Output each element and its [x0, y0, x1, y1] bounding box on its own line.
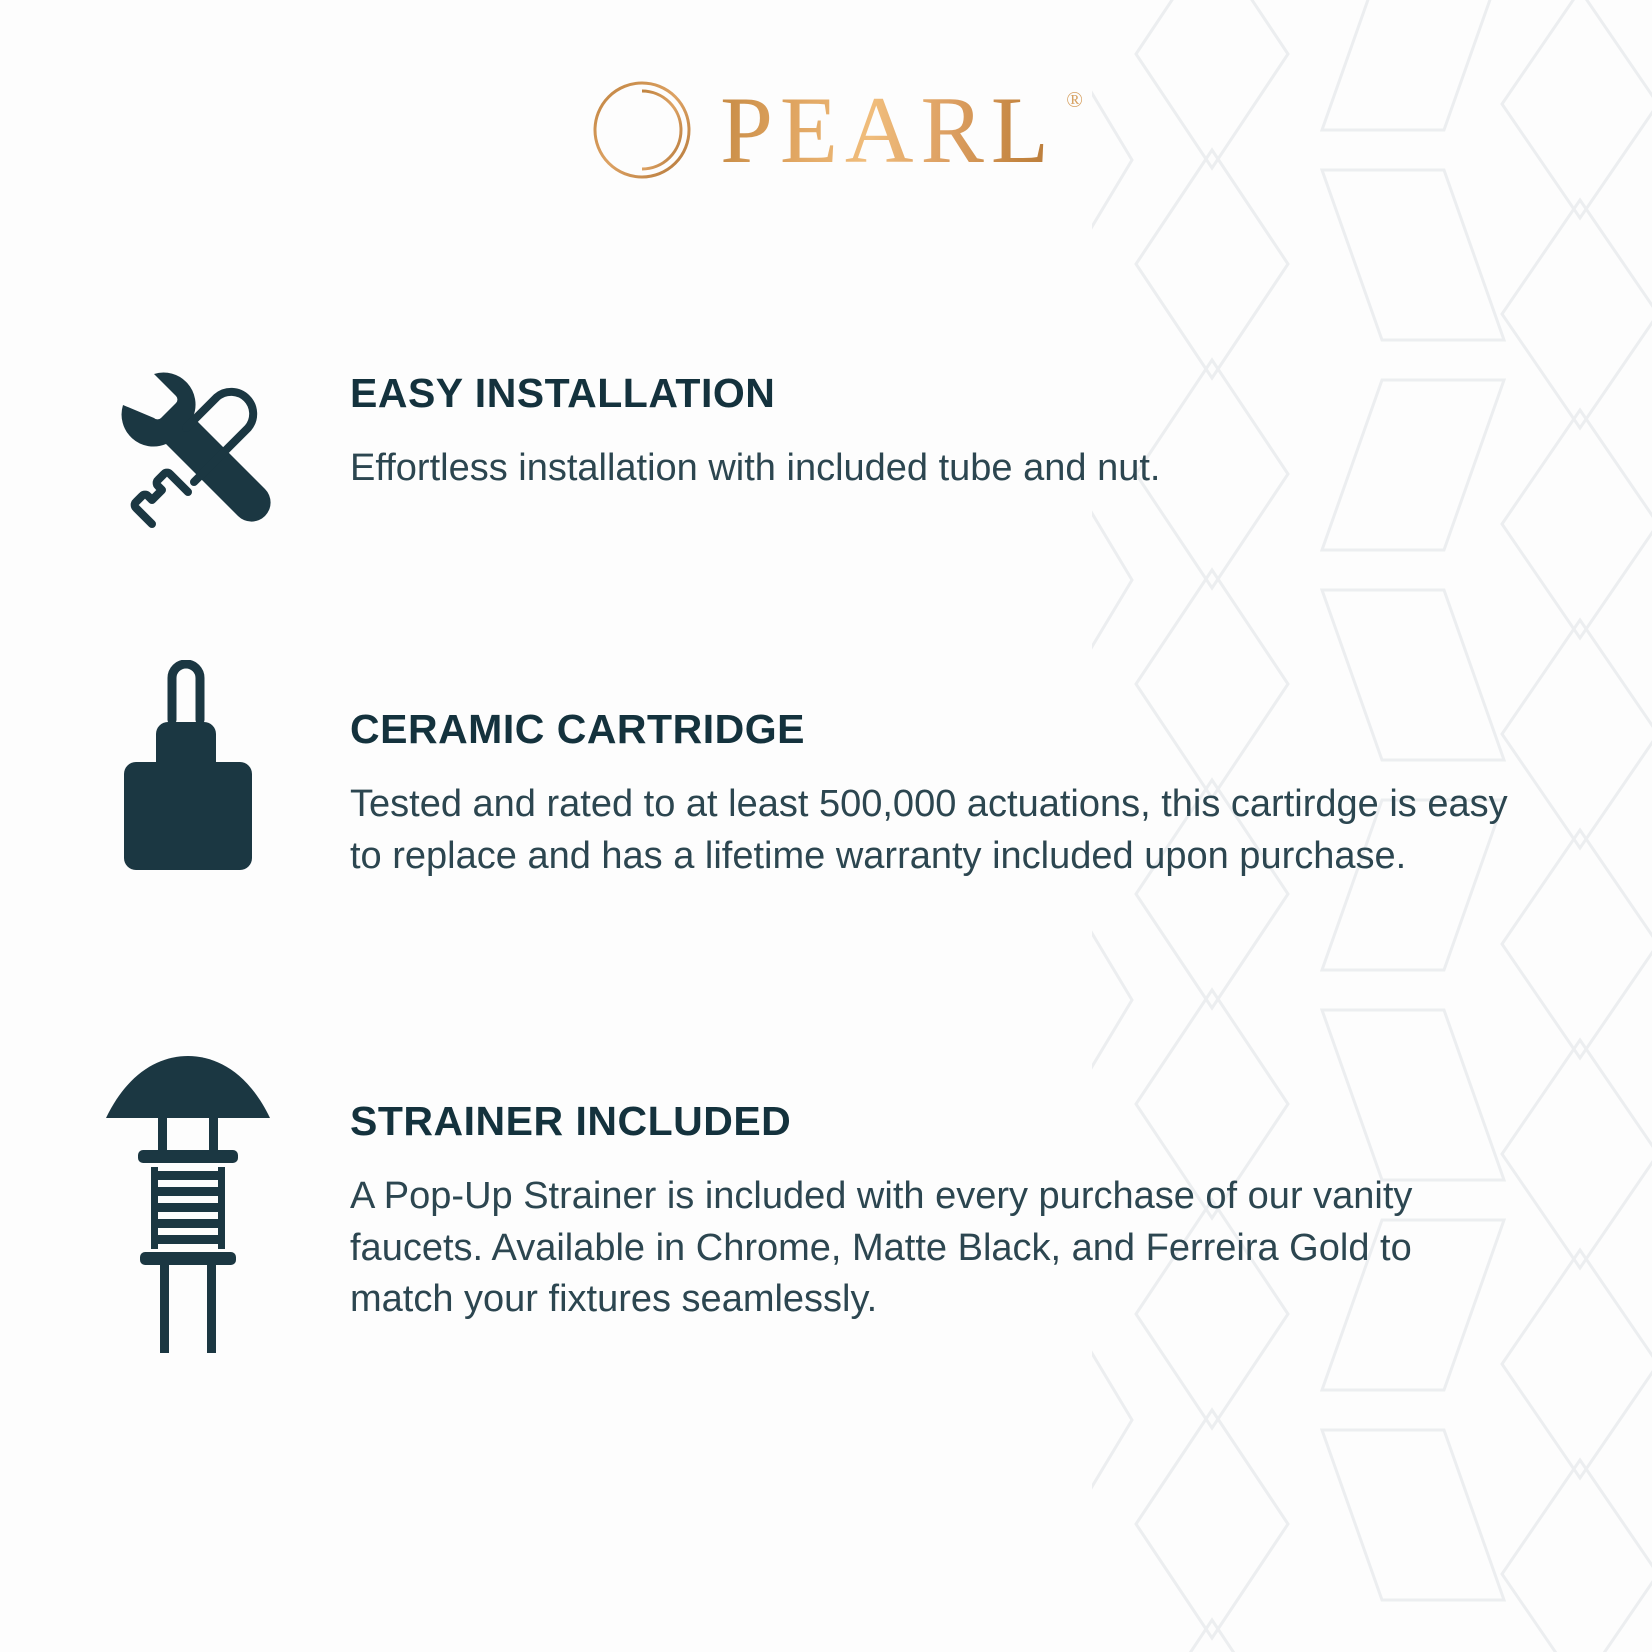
- feature-description: A Pop-Up Strainer is included with every…: [350, 1171, 1510, 1326]
- wrench-screwdriver-icon: [88, 352, 288, 544]
- brand-name: PEARL ®: [720, 83, 1062, 178]
- feature-description: Effortless installation with included tu…: [350, 443, 1510, 495]
- feature-title: EASY INSTALLATION: [350, 370, 1652, 417]
- brand-logo: PEARL ®: [0, 78, 1652, 182]
- ceramic-cartridge-icon: [88, 652, 288, 870]
- feature-description: Tested and rated to at least 500,000 act…: [350, 779, 1510, 882]
- brand-name-text: PEARL: [720, 77, 1056, 183]
- feature-list: EASY INSTALLATION Effortless installatio…: [0, 352, 1652, 1354]
- feature-item-ceramic-cartridge: CERAMIC CARTRIDGE Tested and rated to at…: [0, 652, 1652, 1054]
- feature-text-block: CERAMIC CARTRIDGE Tested and rated to at…: [288, 652, 1652, 882]
- pearl-circle-monogram-icon: [590, 78, 694, 182]
- registered-trademark-icon: ®: [1066, 89, 1090, 111]
- feature-item-easy-installation: EASY INSTALLATION Effortless installatio…: [0, 352, 1652, 652]
- feature-title: STRAINER INCLUDED: [350, 1098, 1652, 1145]
- feature-text-block: STRAINER INCLUDED A Pop-Up Strainer is i…: [288, 1054, 1652, 1326]
- promo-page: PEARL ® EASY INSTALLA: [0, 0, 1652, 1652]
- pop-up-strainer-icon: [88, 1054, 288, 1354]
- feature-item-strainer-included: STRAINER INCLUDED A Pop-Up Strainer is i…: [0, 1054, 1652, 1354]
- feature-text-block: EASY INSTALLATION Effortless installatio…: [288, 352, 1652, 495]
- feature-title: CERAMIC CARTRIDGE: [350, 706, 1652, 753]
